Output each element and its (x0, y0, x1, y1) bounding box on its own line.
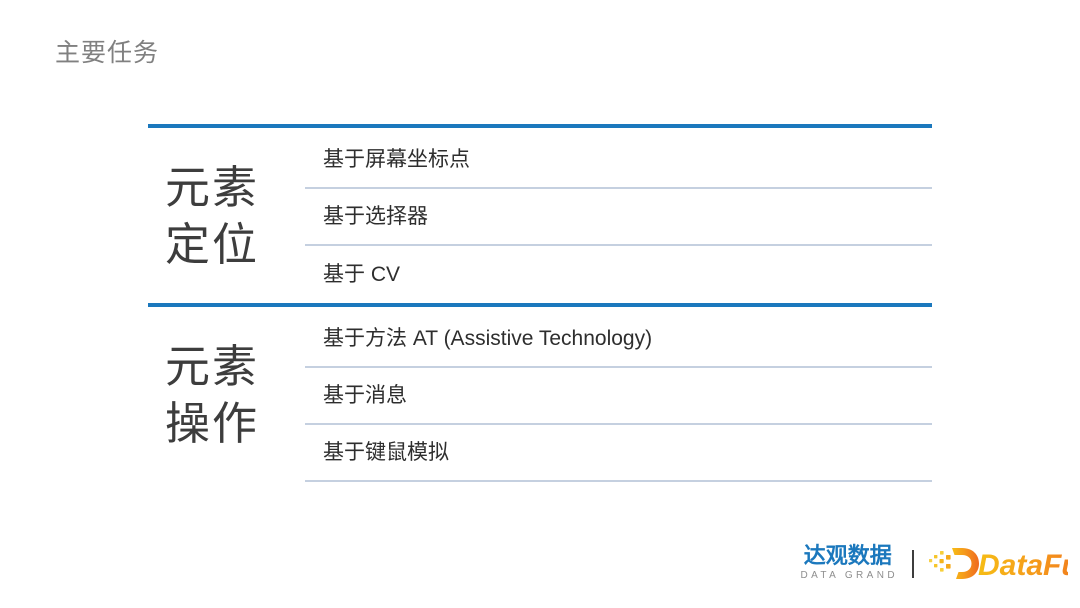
tasks-table: 元素 定位 基于屏幕坐标点 基于选择器 基于 CV 元素 操作 (148, 124, 932, 482)
group-items-element-locate: 基于屏幕坐标点 基于选择器 基于 CV (305, 128, 932, 303)
table-row[interactable]: 基于 CV (305, 246, 932, 303)
item-label: 基于选择器 (323, 203, 428, 231)
logo-divider (912, 550, 914, 578)
task-group-element-operate: 元素 操作 基于方法 AT (Assistive Technology) 基于消… (148, 307, 932, 482)
group-label-element-locate: 元素 定位 (148, 128, 305, 303)
footer-logos: 达观数据 DATA GRAND (797, 544, 1068, 583)
datafun-logo: DataFun. (928, 546, 1068, 582)
table-row[interactable]: 基于消息 (305, 368, 932, 425)
group-label-line-2: 操作 (165, 395, 259, 452)
item-label: 基于 CV (323, 261, 400, 289)
datagrand-logo-en: DATA GRAND (797, 569, 898, 583)
datagrand-logo: 达观数据 DATA GRAND (797, 544, 912, 583)
table-row[interactable]: 基于屏幕坐标点 (305, 132, 932, 189)
group-label-line-1: 元素 (165, 159, 259, 216)
slide-canvas: 主要任务 元素 定位 基于屏幕坐标点 基于选择器 基于 CV (0, 0, 1080, 608)
group-label-line-1: 元素 (165, 338, 259, 395)
datafun-logo-mark: DataFun. (928, 546, 1068, 582)
datafun-d-letter (952, 548, 979, 579)
datafun-dots-icon (929, 551, 951, 572)
datagrand-logo-cn: 达观数据 (804, 544, 892, 568)
item-label: 基于键鼠模拟 (323, 439, 449, 467)
table-row[interactable]: 基于方法 AT (Assistive Technology) (305, 311, 932, 368)
item-label: 基于消息 (323, 382, 407, 410)
datafun-wordmark: DataFun. (978, 549, 1068, 582)
table-row[interactable]: 基于选择器 (305, 189, 932, 246)
group-label-element-operate: 元素 操作 (148, 307, 305, 482)
table-row[interactable]: 基于键鼠模拟 (305, 425, 932, 482)
task-group-element-locate: 元素 定位 基于屏幕坐标点 基于选择器 基于 CV (148, 128, 932, 303)
page-title: 主要任务 (55, 36, 159, 70)
group-label-line-2: 定位 (165, 216, 259, 273)
item-label: 基于方法 AT (Assistive Technology) (323, 325, 652, 353)
item-label: 基于屏幕坐标点 (323, 146, 470, 174)
group-items-element-operate: 基于方法 AT (Assistive Technology) 基于消息 基于键鼠… (305, 307, 932, 482)
